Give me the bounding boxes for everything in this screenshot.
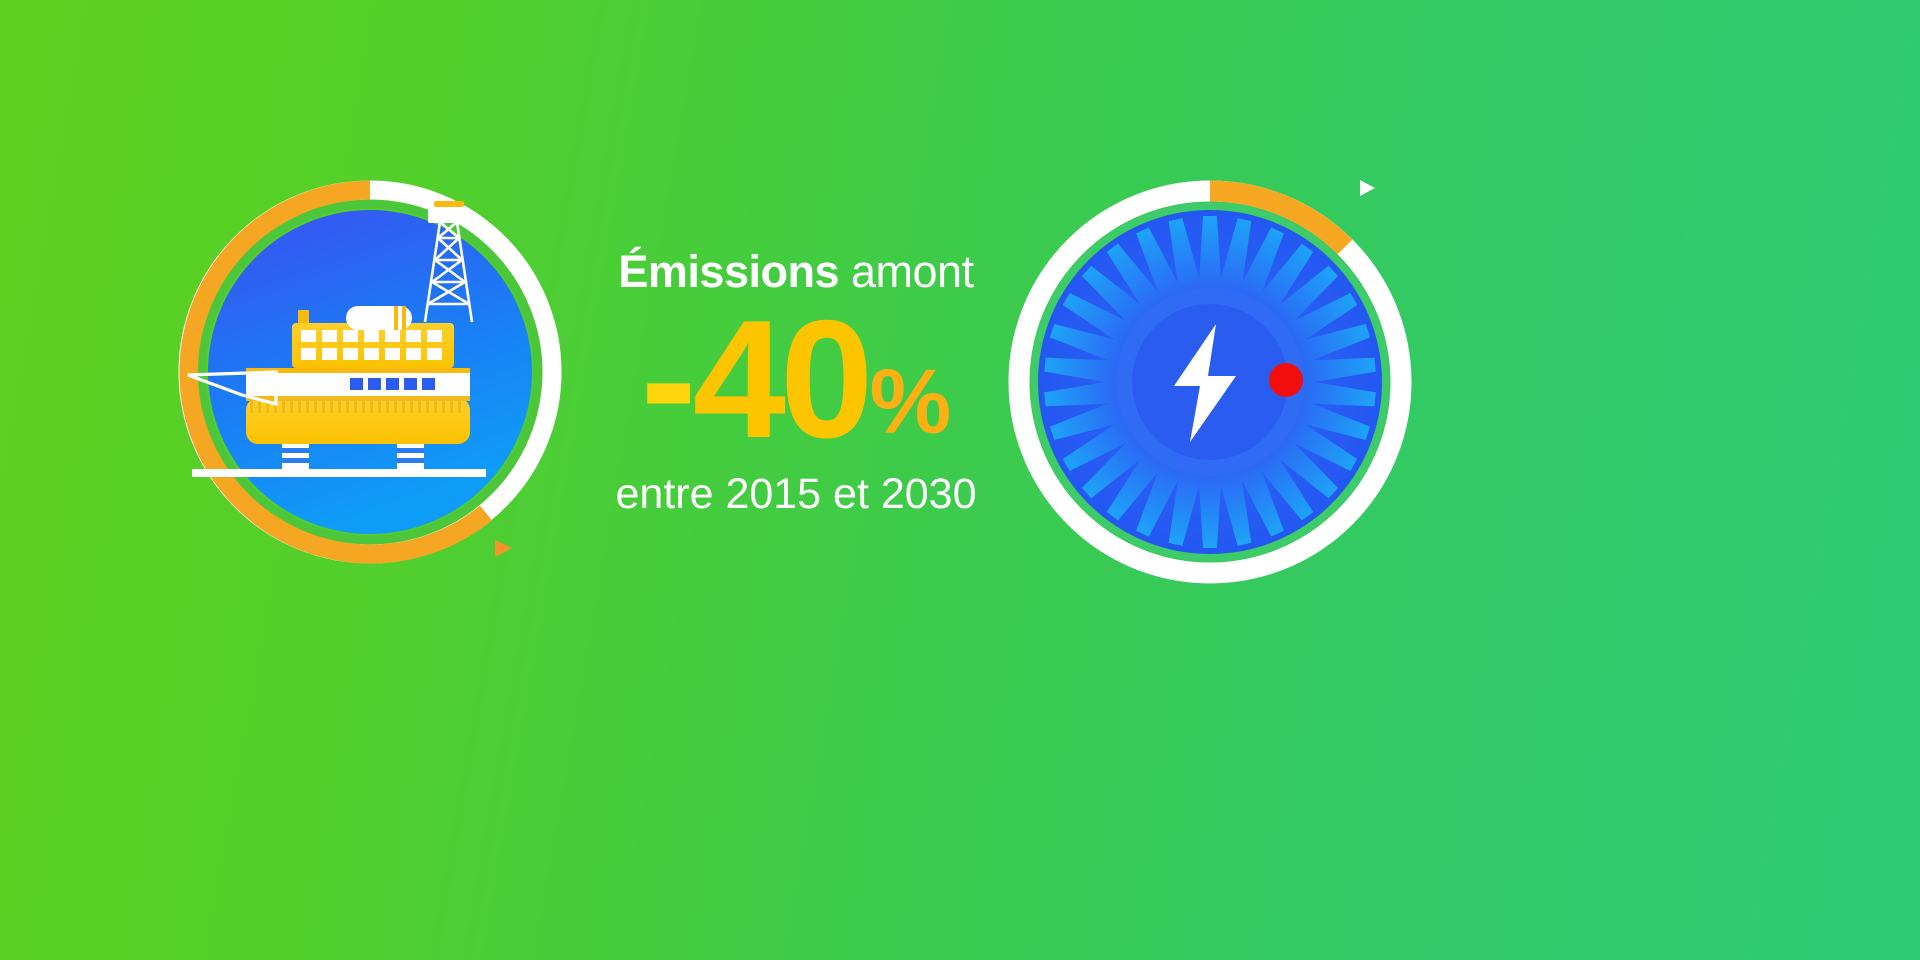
- statistic-subline: entre 2015 et 2030: [615, 470, 976, 519]
- statistic-number: 40: [693, 297, 868, 462]
- left-ring-chart: [170, 172, 570, 572]
- statistic-text-block: Émissions amont -40% entre 2015 et 2030: [596, 248, 996, 548]
- status-indicator-dot: [1269, 363, 1303, 397]
- right-indicator-turbine[interactable]: [1000, 172, 1420, 592]
- statistic-value: -40%: [641, 297, 952, 462]
- left-ring-marker-triangle-icon: [495, 540, 512, 557]
- right-ring-marker-triangle-icon: [1360, 180, 1375, 196]
- left-indicator-oil-platform[interactable]: [170, 172, 570, 572]
- statistic-minus-sign: -: [641, 297, 693, 462]
- right-ring-chart: [1000, 172, 1420, 592]
- statistic-percent-sign: %: [870, 356, 952, 448]
- infographic-canvas: Émissions amont -40% entre 2015 et 2030: [0, 0, 1920, 960]
